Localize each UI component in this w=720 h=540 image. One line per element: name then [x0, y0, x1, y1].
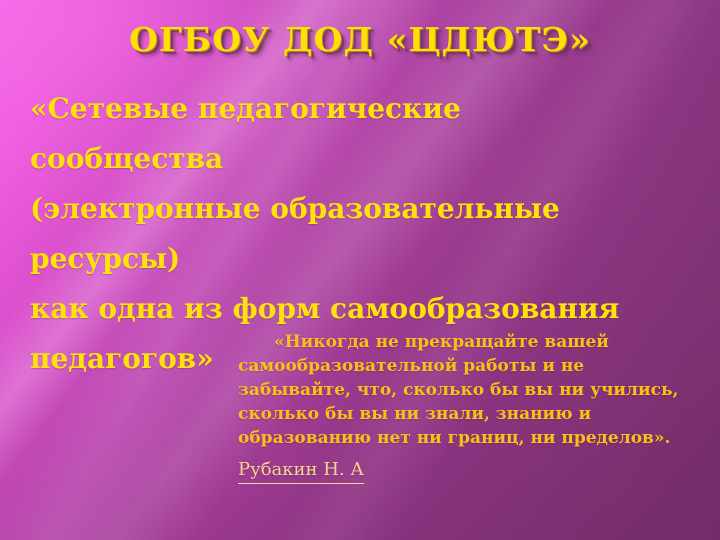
quotation-text: «Никогда не прекращайте вашей самообразо…: [238, 330, 688, 450]
heading-line-2: сообщества: [30, 134, 690, 184]
heading-line-3: (электронные образовательные: [30, 184, 690, 234]
slide-title: ОГБОУ ДОД «ЦДЮТЭ»: [129, 23, 591, 56]
heading-line-1: «Сетевые педагогические: [30, 84, 690, 134]
heading-line-5: как одна из форм самообразования: [30, 284, 690, 334]
slide-title-band: ОГБОУ ДОД «ЦДЮТЭ»: [0, 8, 720, 70]
quotation-author: Рубакин Н. А: [238, 458, 364, 484]
presentation-slide: ОГБОУ ДОД «ЦДЮТЭ» «Сетевые педагогически…: [0, 0, 720, 540]
quotation-block: «Никогда не прекращайте вашей самообразо…: [238, 330, 688, 484]
heading-line-4: ресурсы): [30, 234, 690, 284]
